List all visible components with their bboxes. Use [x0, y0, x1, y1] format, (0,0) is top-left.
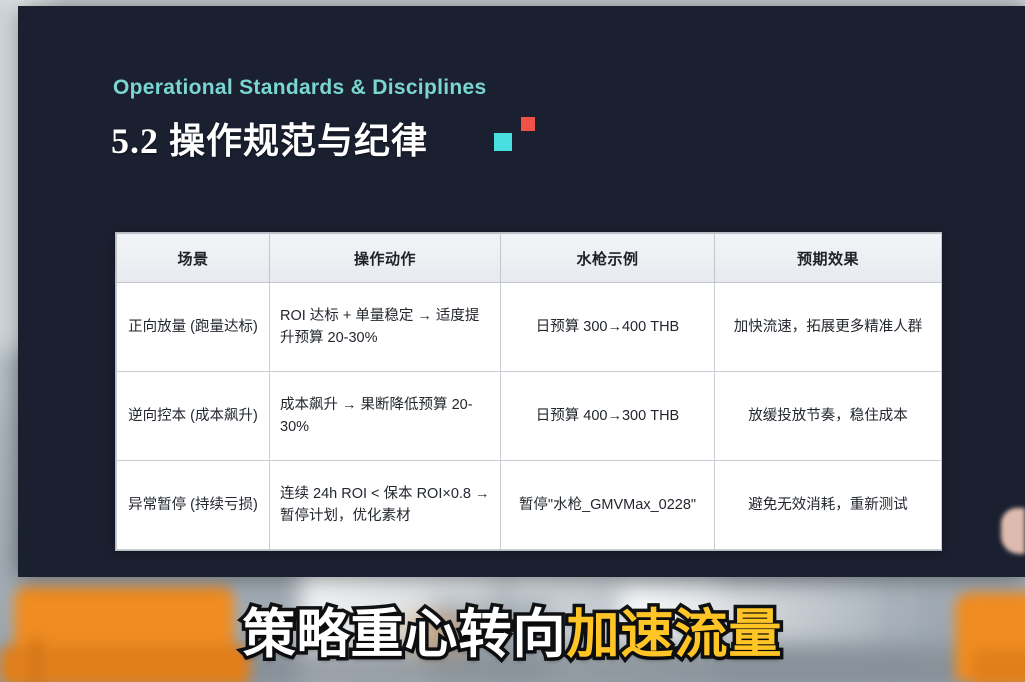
column-header-scene: 场景 — [117, 234, 270, 283]
table-row: 逆向控本 (成本飙升) 成本飙升 → 果断降低预算 20-30% 日预算 400… — [117, 372, 942, 461]
slide-eyebrow: Operational Standards & Disciplines — [113, 76, 486, 100]
cell-action: 连续 24h ROI < 保本 ROI×0.8 → 暂停计划，优化素材 — [270, 461, 501, 550]
cell-scene: 逆向控本 (成本飙升) — [117, 372, 270, 461]
caption-text-primary: 策略重心转向 — [243, 605, 567, 664]
page-title: 5.2 操作规范与纪律 — [111, 112, 428, 164]
cell-example: 日预算 400→300 THB — [501, 372, 715, 461]
table-row: 正向放量 (跑量达标) ROI 达标 + 单量稳定 → 适度提升预算 20-30… — [117, 283, 942, 372]
cyan-square-icon — [494, 133, 512, 151]
column-header-example: 水枪示例 — [501, 234, 715, 283]
cell-example: 日预算 300→400 THB — [501, 283, 715, 372]
presentation-slide: Operational Standards & Disciplines 5.2 … — [18, 6, 1025, 577]
slide-title-row: 5.2 操作规范与纪律 — [111, 112, 560, 164]
video-caption: 策略重心转向加速流量 — [0, 592, 1025, 668]
column-header-action: 操作动作 — [270, 234, 501, 283]
table-row: 异常暂停 (持续亏损) 连续 24h ROI < 保本 ROI×0.8 → 暂停… — [117, 461, 942, 550]
cell-action: ROI 达标 + 单量稳定 → 适度提升预算 20-30% — [270, 283, 501, 372]
spec-table-container: 场景 操作动作 水枪示例 预期效果 正向放量 (跑量达标) ROI 达标 + 单… — [115, 232, 942, 551]
cell-effect: 放缓投放节奏，稳住成本 — [715, 372, 942, 461]
caption-text-highlight: 加速流量 — [567, 605, 783, 664]
spec-table: 场景 操作动作 水枪示例 预期效果 正向放量 (跑量达标) ROI 达标 + 单… — [116, 233, 942, 550]
background-window-frame — [0, 0, 6, 410]
cell-effect: 避免无效消耗，重新测试 — [715, 461, 942, 550]
table-header-row: 场景 操作动作 水枪示例 预期效果 — [117, 234, 942, 283]
presenter-hand — [1001, 508, 1025, 554]
cell-scene: 正向放量 (跑量达标) — [117, 283, 270, 372]
cell-scene: 异常暂停 (持续亏损) — [117, 461, 270, 550]
decoration-squares — [490, 117, 560, 159]
red-square-icon — [521, 117, 535, 131]
column-header-effect: 预期效果 — [715, 234, 942, 283]
cell-effect: 加快流速，拓展更多精准人群 — [715, 283, 942, 372]
cell-example: 暂停"水枪_GMVMax_0228" — [501, 461, 715, 550]
cell-action: 成本飙升 → 果断降低预算 20-30% — [270, 372, 501, 461]
